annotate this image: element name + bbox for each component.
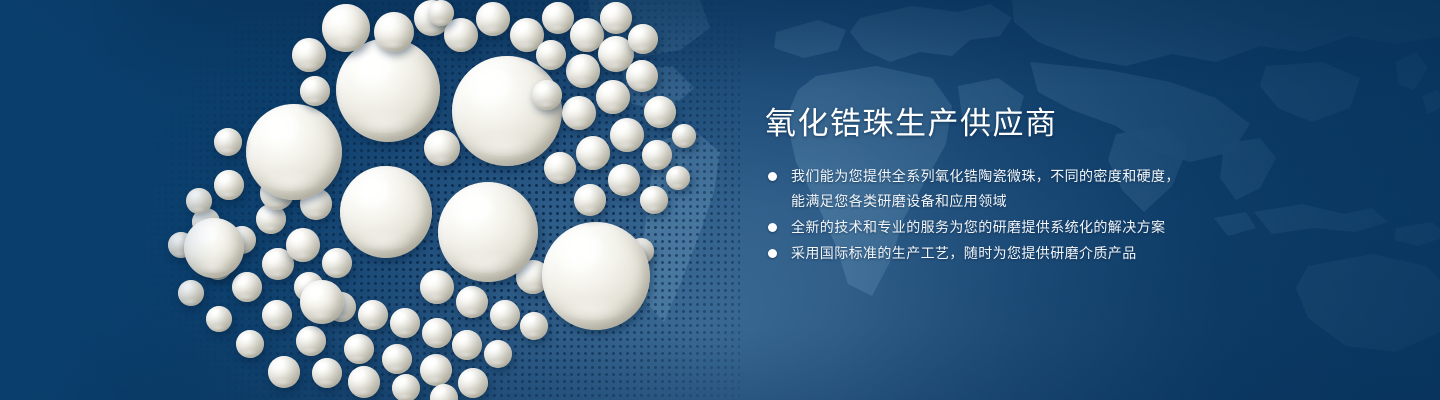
list-item-line: 能满足您各类研磨设备和应用领域 [791,189,1385,214]
page-title: 氧化锆珠生产供应商 [765,104,1385,144]
bullet-dot-icon [768,223,777,232]
bullet-dot-icon [768,172,777,181]
list-item-line: 我们能为您提供全系列氧化锆陶瓷微珠，不同的密度和硬度， [791,164,1385,189]
list-item-line: 采用国际标准的生产工艺，随时为您提供研磨介质产品 [791,241,1385,266]
hero-banner: 氧化锆珠生产供应商 我们能为您提供全系列氧化锆陶瓷微珠，不同的密度和硬度， 能满… [0,0,1440,400]
list-item: 采用国际标准的生产工艺，随时为您提供研磨介质产品 [765,241,1385,266]
feature-list: 我们能为您提供全系列氧化锆陶瓷微珠，不同的密度和硬度， 能满足您各类研磨设备和应… [765,164,1385,266]
list-item: 我们能为您提供全系列氧化锆陶瓷微珠，不同的密度和硬度， 能满足您各类研磨设备和应… [765,164,1385,214]
bullet-dot-icon [768,249,777,258]
list-item: 全新的技术和专业的服务为您的研磨提供系统化的解决方案 [765,215,1385,240]
banner-copy: 氧化锆珠生产供应商 我们能为您提供全系列氧化锆陶瓷微珠，不同的密度和硬度， 能满… [765,104,1385,267]
list-item-line: 全新的技术和专业的服务为您的研磨提供系统化的解决方案 [791,215,1385,240]
